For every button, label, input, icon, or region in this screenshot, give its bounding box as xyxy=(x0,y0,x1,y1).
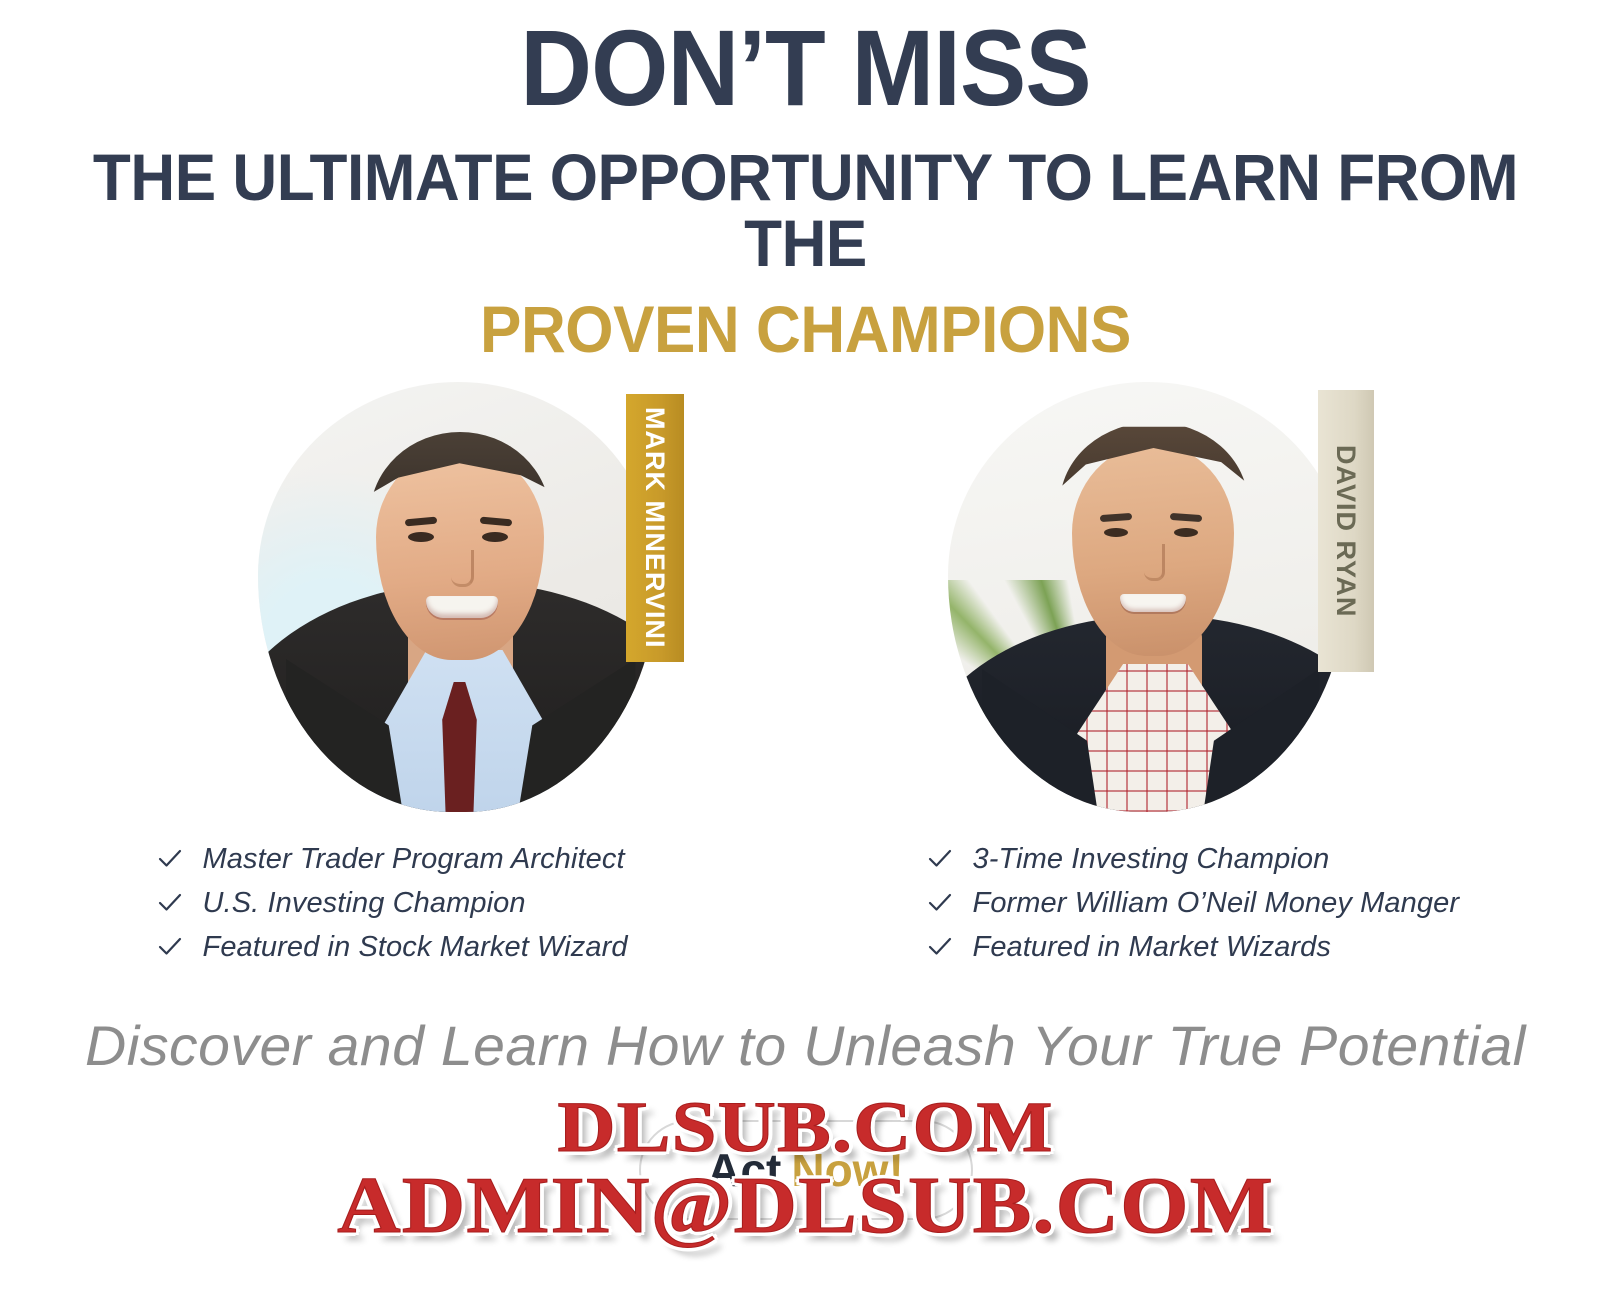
credentials-list-mark-minervini: Master Trader Program Architect U.S. Inv… xyxy=(143,842,703,974)
name-banner-mark-minervini: MARK MINERVINI xyxy=(626,394,684,662)
speakers-row: MARK MINERVINI xyxy=(0,372,1611,812)
list-item: Former William O’Neil Money Manger xyxy=(909,886,1469,918)
name-banner-label-david: DAVID RYAN xyxy=(1330,445,1361,618)
smile-shape-david xyxy=(1120,594,1186,612)
watermark-email: ADMIN@DLSUB.COM xyxy=(0,1161,1611,1252)
check-icon xyxy=(157,934,183,960)
credentials-row: Master Trader Program Architect U.S. Inv… xyxy=(0,842,1611,974)
name-banner-david-ryan: DAVID RYAN xyxy=(1318,390,1374,672)
speaker-card-mark-minervini: MARK MINERVINI xyxy=(246,372,676,812)
list-item: 3-Time Investing Champion xyxy=(909,842,1469,874)
tagline: Discover and Learn How to Unleash Your T… xyxy=(0,1015,1611,1077)
portrait-photo-david-ryan xyxy=(948,382,1348,812)
list-item: Featured in Stock Market Wizard xyxy=(143,930,703,962)
headline-line-2: THE ULTIMATE OPPORTUNITY TO LEARN FROM T… xyxy=(48,144,1562,276)
headline-line-3-proven-champions: PROVEN CHAMPIONS xyxy=(48,296,1562,362)
list-item: Featured in Market Wizards xyxy=(909,930,1469,962)
list-item-label: Featured in Stock Market Wizard xyxy=(203,933,628,962)
eye-right-mark xyxy=(482,532,508,542)
eye-right-david xyxy=(1174,528,1198,537)
name-banner-label-mark: MARK MINERVINI xyxy=(639,407,670,649)
eye-left-david xyxy=(1104,528,1128,537)
nose-shape-david xyxy=(1144,544,1165,581)
list-item-label: Former William O’Neil Money Manger xyxy=(973,889,1460,918)
list-item-label: Master Trader Program Architect xyxy=(203,845,625,874)
headline-block: DON’T MISS THE ULTIMATE OPPORTUNITY TO L… xyxy=(0,0,1611,362)
check-icon xyxy=(927,934,953,960)
watermark-site: DLSUB.COM xyxy=(0,1086,1611,1169)
check-icon xyxy=(157,846,183,872)
check-icon xyxy=(927,846,953,872)
list-item-label: U.S. Investing Champion xyxy=(203,889,526,918)
check-icon xyxy=(157,890,183,916)
list-item-label: 3-Time Investing Champion xyxy=(973,845,1330,874)
smile-shape-mark xyxy=(426,596,498,618)
list-item: Master Trader Program Architect xyxy=(143,842,703,874)
eye-left-mark xyxy=(408,532,434,542)
portrait-photo-mark-minervini xyxy=(258,382,658,812)
speaker-card-david-ryan: DAVID RYAN xyxy=(936,372,1366,812)
headline-line-1: DON’T MISS xyxy=(64,14,1546,122)
speaker-photo-wrap-david: DAVID RYAN xyxy=(936,372,1366,812)
nose-shape-mark xyxy=(451,550,474,587)
credentials-list-david-ryan: 3-Time Investing Champion Former William… xyxy=(909,842,1469,974)
list-item: U.S. Investing Champion xyxy=(143,886,703,918)
list-item-label: Featured in Market Wizards xyxy=(973,933,1332,962)
check-icon xyxy=(927,890,953,916)
speaker-photo-wrap-mark: MARK MINERVINI xyxy=(246,372,676,812)
